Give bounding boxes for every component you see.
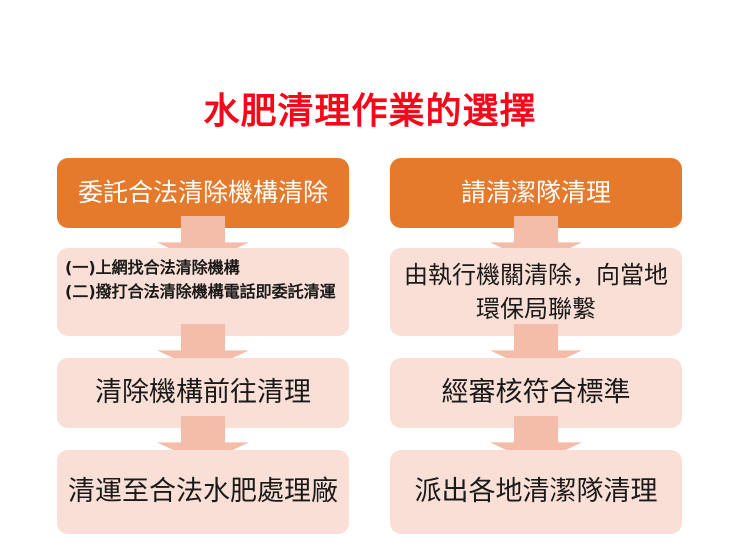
flow-step-right-3[interactable]: 派出各地清潔隊清理: [390, 450, 682, 534]
flow-step-left-1[interactable]: (一)上網找合法清除機構 (二)撥打合法清除機構電話即委託清運: [57, 248, 349, 336]
flow-step-right-1[interactable]: 由執行機關清除，向當地環保局聯繫: [390, 248, 682, 336]
flow-step-left-3[interactable]: 清運至合法水肥處理廠: [57, 450, 349, 534]
slide-canvas: 水肥清理作業的選擇 委託合法清除機構清除 (一)上網找合法清除機構 (二)撥打合…: [0, 0, 740, 546]
flow-step-left-1-line-1: (一)上網找合法清除機構: [65, 256, 343, 280]
flow-column-right: 請清潔隊清理 由執行機關清除，向當地環保局聯繫 經審核符合標準 派出各地清潔隊清…: [390, 0, 682, 546]
flow-column-left: 委託合法清除機構清除 (一)上網找合法清除機構 (二)撥打合法清除機構電話即委託…: [57, 0, 349, 546]
flow-step-left-1-line-2: (二)撥打合法清除機構電話即委託清運: [65, 280, 343, 304]
